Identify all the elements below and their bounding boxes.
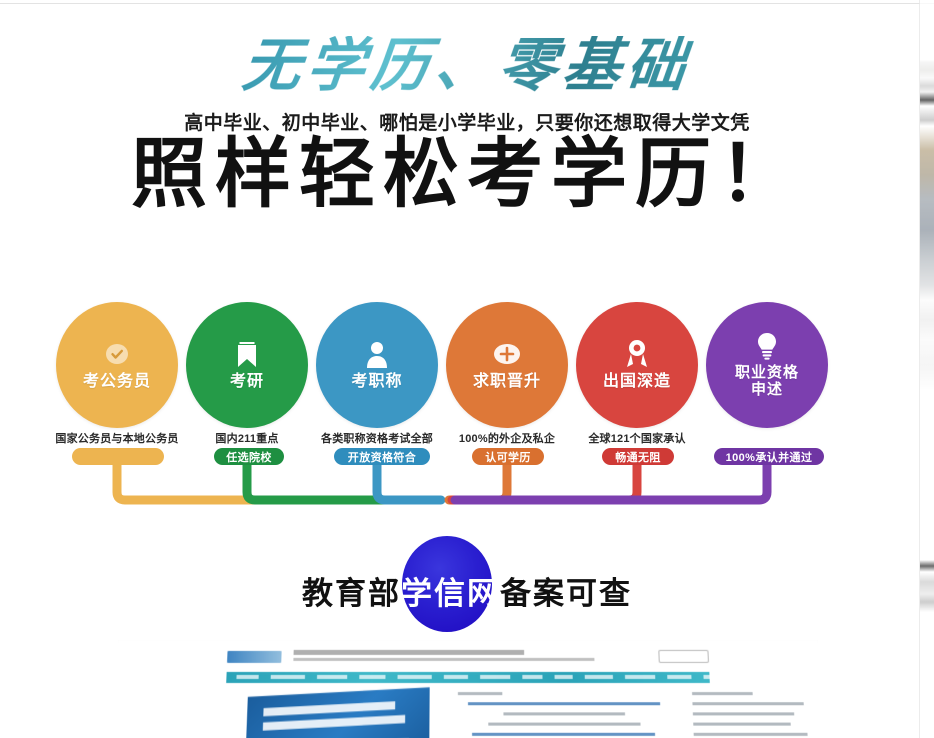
screenshot-header xyxy=(227,650,709,666)
screenshot-article-column xyxy=(458,692,673,738)
screenshot-title-bar xyxy=(294,650,525,655)
screenshot-list-column xyxy=(692,692,818,738)
pill-study-abroad[interactable]: 畅通无阻 xyxy=(602,448,674,465)
person-icon xyxy=(362,339,392,369)
plus-oval-icon xyxy=(492,339,522,369)
pill-vocational-qualification[interactable]: 100%承认并通过 xyxy=(714,448,824,465)
node-civil-service[interactable]: 考公务员 xyxy=(56,302,178,428)
bookmark-icon xyxy=(232,339,262,369)
bottom-prefix: 教育部 xyxy=(302,576,401,611)
poster-root: 无学历、零基础 高中毕业、初中毕业、哪怕是小学毕业，只要你还想取得大学文凭 照样… xyxy=(0,0,934,738)
top-rule xyxy=(0,3,934,4)
pill-civil-service[interactable] xyxy=(72,448,164,465)
node-postgraduate[interactable]: 考研 xyxy=(186,302,308,428)
brush-title: 无学历、零基础 xyxy=(0,36,934,94)
screenshot-banner xyxy=(245,687,429,738)
page-title: 照样轻松考学历！ xyxy=(0,134,934,214)
bottom-suffix: 备案可查 xyxy=(500,576,632,611)
node-label-line1: 职业资格 xyxy=(735,365,799,382)
screenshot-navbar xyxy=(226,672,710,683)
pill-professional-title[interactable]: 开放资格符合 xyxy=(334,448,430,465)
node-study-abroad[interactable]: 出国深造 xyxy=(576,302,698,428)
xuexin-ball xyxy=(402,536,492,632)
pill-job-promotion[interactable]: 认可学历 xyxy=(472,448,544,465)
node-label: 求职晋升 xyxy=(473,373,541,391)
bubble-civil-service[interactable]: 考公务员 xyxy=(56,302,178,428)
bubble-job-promotion[interactable]: 求职晋升 xyxy=(446,302,568,428)
bubble-postgraduate[interactable]: 考研 xyxy=(186,302,308,428)
node-label: 考公务员 xyxy=(83,373,151,391)
node-label: 考职称 xyxy=(351,373,402,391)
node-label: 考研 xyxy=(230,373,264,391)
node-professional-title[interactable]: 考职称 xyxy=(316,302,438,428)
bubble-professional-title[interactable]: 考职称 xyxy=(316,302,438,428)
check-badge-icon xyxy=(102,339,132,369)
pill-postgraduate[interactable]: 任选院校 xyxy=(214,448,284,465)
benefit-circles: 考公务员 考研 xyxy=(56,302,878,434)
screenshot-page xyxy=(118,640,818,738)
node-vocational-qualification[interactable]: 职业资格 申述 xyxy=(706,302,828,428)
website-screenshot xyxy=(118,640,818,738)
lightbulb-icon xyxy=(752,331,782,361)
screenshot-logo xyxy=(227,651,282,663)
node-job-promotion[interactable]: 求职晋升 xyxy=(446,302,568,428)
bubble-vocational-qualification[interactable]: 职业资格 申述 xyxy=(706,302,828,428)
screenshot-subtitle-bar xyxy=(293,658,594,661)
medal-icon xyxy=(622,339,652,369)
node-label-line2: 申述 xyxy=(751,382,783,399)
screenshot-search-box[interactable] xyxy=(658,650,709,663)
node-label: 出国深造 xyxy=(603,373,671,391)
caption-study-abroad: 全球121个国家承认 xyxy=(542,430,732,446)
bubble-study-abroad[interactable]: 出国深造 xyxy=(576,302,698,428)
